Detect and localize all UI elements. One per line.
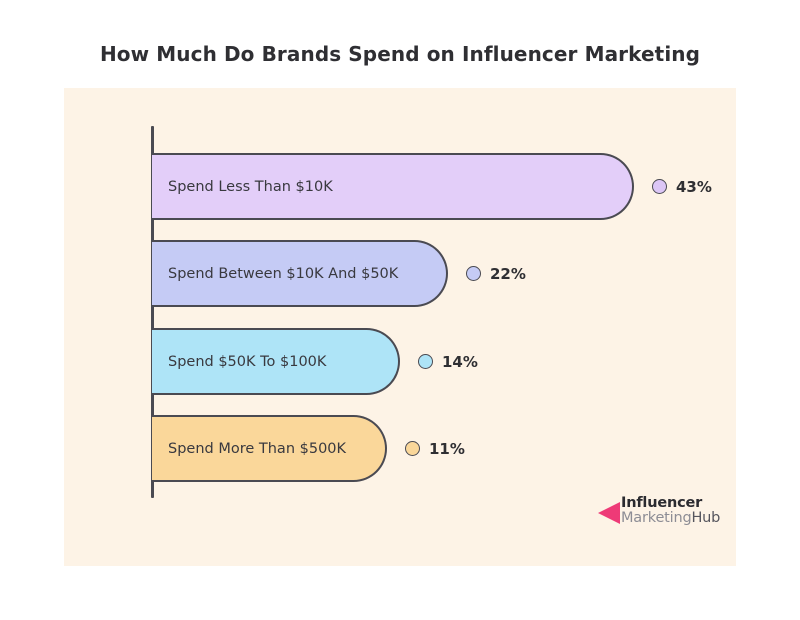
chart-page: How Much Do Brands Spend on Influencer M… [0,0,800,620]
value-dot-icon [418,354,433,369]
bar-category-label: Spend $50K To $100K [152,354,326,370]
logo-word-marketing: Marketing [621,510,691,526]
bar-value-group: 11% [405,415,465,482]
bar-spend-between-10k-and-50k[interactable]: Spend Between $10K And $50K [152,240,448,307]
bar-value-label: 43% [676,178,712,196]
bar-value-label: 11% [429,440,465,458]
bar-spend-50k-to-100k[interactable]: Spend $50K To $100K [152,328,400,395]
influencer-marketing-hub-logo: Influencer MarketingHub [598,496,720,526]
bar-value-group: 22% [466,240,526,307]
bar-value-label: 22% [490,265,526,283]
bar-series: Spend Less Than $10K 43% Spend Between $… [152,153,712,493]
logo-wordmark: Influencer MarketingHub [621,496,720,526]
bar-spend-less-than-10k[interactable]: Spend Less Than $10K [152,153,634,220]
logo-line-marketinghub: MarketingHub [621,511,720,526]
bar-value-group: 43% [652,153,712,220]
value-dot-icon [405,441,420,456]
value-dot-icon [466,266,481,281]
page-title: How Much Do Brands Spend on Influencer M… [0,42,800,66]
left-pointing-triangle-icon [598,500,620,526]
chart-card: Spend Less Than $10K 43% Spend Between $… [64,88,736,566]
bar-category-label: Spend Less Than $10K [152,179,333,195]
logo-line-influencer: Influencer [621,496,720,511]
bar-category-label: Spend Between $10K And $50K [152,266,398,282]
bar-value-group: 14% [418,328,478,395]
logo-word-hub: Hub [691,510,720,526]
value-dot-icon [652,179,667,194]
bar-spend-more-than-500k[interactable]: Spend More Than $500K [152,415,387,482]
bar-value-label: 14% [442,353,478,371]
bar-category-label: Spend More Than $500K [152,441,346,457]
